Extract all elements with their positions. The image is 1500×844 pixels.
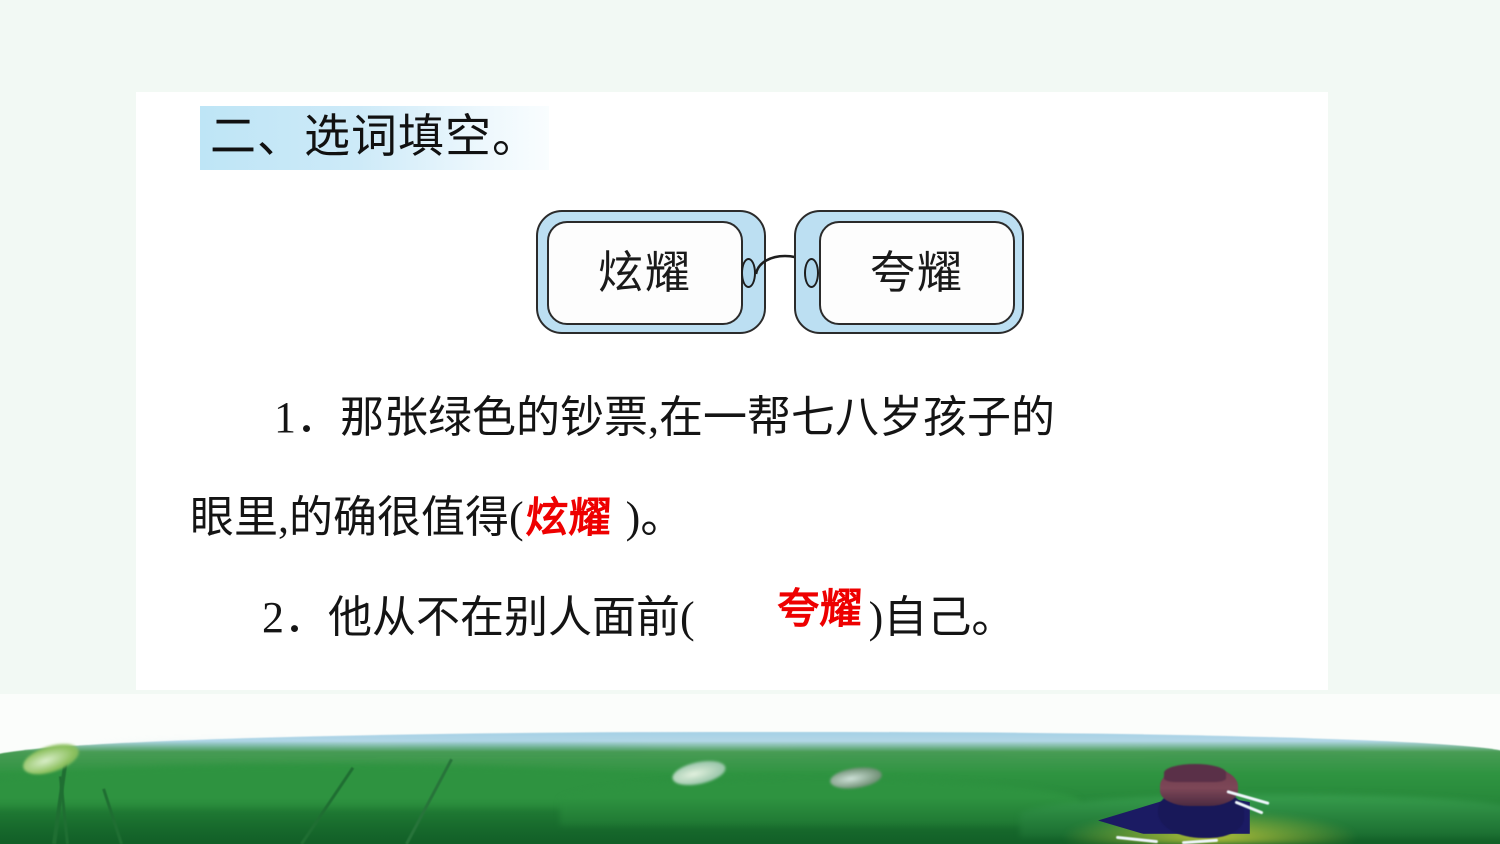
word-tag-1-eyelet-icon — [741, 258, 756, 288]
bird-cap — [1164, 764, 1226, 782]
worksheet-card: 二、选词填空。 炫耀 夸耀 1．那张绿色的钞票,在一帮七八岁孩子的 眼里,的确很… — [136, 92, 1328, 690]
word-tag-1[interactable]: 炫耀 — [536, 210, 766, 334]
slide-canvas: 二、选词填空。 炫耀 夸耀 1．那张绿色的钞票,在一帮七八岁孩子的 眼里,的确很… — [0, 0, 1500, 844]
question-1-text-part-3: )。 — [626, 493, 685, 542]
bird-wing — [1098, 792, 1250, 834]
word-tag-1-inner: 炫耀 — [547, 221, 743, 325]
question-2-answer[interactable]: 夸耀 — [702, 559, 865, 659]
grass-ridge — [560, 778, 1080, 826]
grass-yellow-patch — [1060, 810, 1360, 844]
question-2-text-part-1: 他从不在别人面前( — [328, 593, 695, 642]
grass-decoration — [0, 694, 1500, 844]
word-tag-2[interactable]: 夸耀 — [794, 210, 1024, 334]
question-1-line-2: 眼里,的确很值得(炫耀)。 — [190, 468, 1300, 568]
bird-streak — [1116, 836, 1158, 843]
question-1-text-part-1: 那张绿色的钞票,在一帮七八岁孩子的 — [340, 393, 1055, 442]
bird-streak — [1235, 800, 1264, 814]
bird-head — [1160, 766, 1238, 806]
question-1-text-part-2: 眼里,的确很值得( — [190, 493, 524, 542]
bird-body — [1158, 788, 1244, 838]
question-1-number: 1． — [274, 393, 340, 442]
horizon-haze — [80, 746, 380, 766]
grass-shadow — [0, 798, 1500, 844]
horizon-haze — [330, 746, 690, 772]
grass-stalk — [59, 776, 69, 844]
grass-flower — [19, 738, 82, 781]
bird-streak — [1226, 790, 1269, 805]
word-tag-2-label: 夸耀 — [870, 251, 964, 296]
word-bank: 炫耀 夸耀 — [536, 210, 1036, 342]
grass-stalk — [300, 767, 354, 844]
grass-ridge — [1020, 794, 1500, 838]
horizon-haze — [1040, 752, 1470, 792]
sky-area — [0, 694, 1500, 844]
word-tag-2-eyelet-icon — [804, 258, 819, 288]
grass-flower — [670, 757, 727, 790]
word-tag-2-inner: 夸耀 — [819, 221, 1015, 325]
question-list: 1．那张绿色的钞票,在一帮七八岁孩子的 眼里,的确很值得(炫耀)。 2．他从不在… — [190, 368, 1300, 668]
grass-stalk — [102, 788, 123, 844]
question-1-answer[interactable]: 炫耀 — [523, 468, 614, 568]
word-tag-1-label: 炫耀 — [598, 251, 692, 296]
grass-ridge — [0, 764, 680, 808]
question-1-line-1: 1．那张绿色的钞票,在一帮七八岁孩子的 — [190, 368, 1300, 468]
grass-field — [0, 732, 1500, 844]
question-2-text-part-2: )自己。 — [869, 593, 1016, 642]
grass-stalk — [405, 759, 453, 844]
question-2-line: 2．他从不在别人面前(夸耀)自己。 — [190, 568, 1300, 668]
exercise-heading: 二、选词填空。 — [200, 106, 549, 170]
bird-streak — [1182, 839, 1218, 844]
swallow-bird-icon — [1098, 752, 1288, 844]
grass-stalk — [52, 759, 68, 844]
horizon-haze — [700, 752, 1120, 786]
grass-flower — [829, 764, 883, 791]
question-2-number: 2． — [262, 593, 328, 642]
